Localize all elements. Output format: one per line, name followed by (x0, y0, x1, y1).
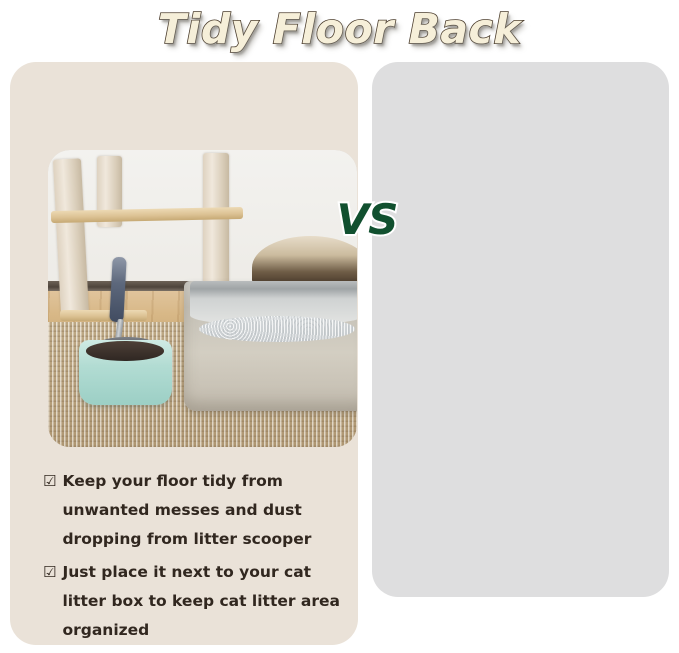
list-item: ☑ Keep your floor tidy from unwanted mes… (43, 467, 358, 554)
vs-label: VS (337, 199, 398, 241)
vs-badge: VS (331, 192, 403, 248)
pros-panel: ☑ Keep your floor tidy from unwanted mes… (10, 62, 358, 645)
pros-photo (48, 150, 357, 447)
litter-sand (199, 316, 355, 342)
scoop-holder-well (86, 341, 164, 361)
pros-photo-scene (48, 150, 357, 447)
scoop-holder (79, 340, 172, 405)
checkbox-checked-icon: ☑ (43, 467, 56, 496)
title-bar: Tidy Floor Back (0, 0, 679, 58)
cat-tree-shelf-lower (60, 310, 147, 320)
cat-tree-post-right (203, 153, 229, 296)
list-item: ☑ Just place it next to your cat litter … (43, 558, 358, 645)
page-title: Tidy Floor Back (158, 9, 521, 50)
pros-bullet-text: Keep your floor tidy from unwanted messe… (62, 467, 358, 554)
pros-bullet-text: Just place it next to your cat litter bo… (62, 558, 358, 645)
cons-panel: ☒ ☒ Nowhere to place the scoop after usi… (372, 62, 669, 597)
litter-box (184, 281, 357, 412)
pros-bullet-list: ☑ Keep your floor tidy from unwanted mes… (43, 467, 358, 649)
checkbox-checked-icon: ☑ (43, 558, 56, 587)
